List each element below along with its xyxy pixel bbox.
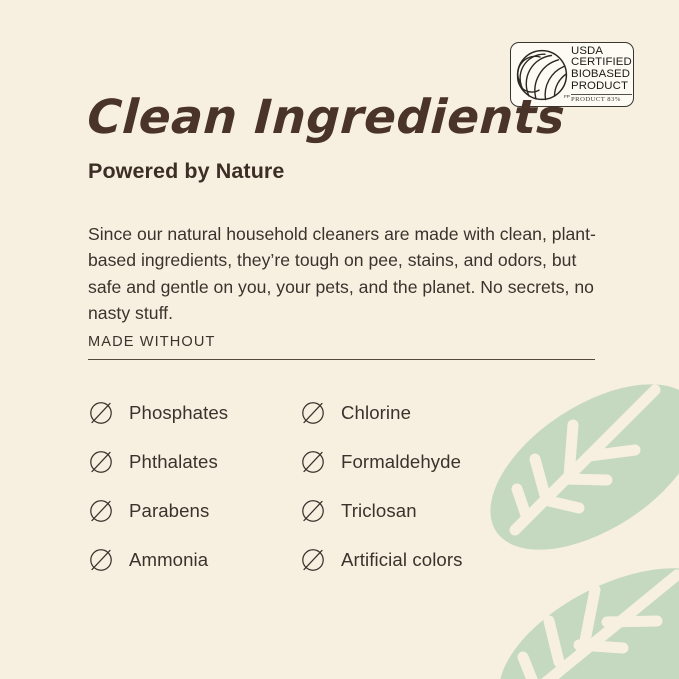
usda-divider xyxy=(571,94,632,95)
no-slash-circle-icon xyxy=(300,547,326,573)
no-slash-circle-icon xyxy=(300,498,326,524)
made-without-label: MADE WITHOUT xyxy=(88,333,216,351)
list-item-label: Artificial colors xyxy=(341,549,463,571)
no-slash-circle-icon xyxy=(300,449,326,475)
list-item: Phosphates xyxy=(88,400,300,426)
list-item-label: Chlorine xyxy=(341,402,411,424)
no-slash-circle-icon xyxy=(88,400,114,426)
list-item-label: Triclosan xyxy=(341,500,417,522)
no-slash-circle-icon xyxy=(88,547,114,573)
no-slash-circle-icon xyxy=(88,498,114,524)
list-item-label: Phthalates xyxy=(129,451,218,473)
page-subtitle: Powered by Nature xyxy=(88,158,284,184)
list-item: Formaldehyde xyxy=(300,449,598,475)
list-item-label: Phosphates xyxy=(129,402,228,424)
list-item-label: Formaldehyde xyxy=(341,451,461,473)
list-item: Artificial colors xyxy=(300,547,598,573)
page-title: Clean Ingredients xyxy=(86,92,566,144)
body-paragraph: Since our natural household cleaners are… xyxy=(88,221,600,327)
usda-line-3: BIOBASED xyxy=(571,69,632,81)
list-item-label: Parabens xyxy=(129,500,209,522)
list-item: Phthalates xyxy=(88,449,300,475)
list-item: Chlorine xyxy=(300,400,598,426)
no-slash-circle-icon xyxy=(300,400,326,426)
list-item-label: Ammonia xyxy=(129,549,208,571)
made-without-list: Phosphates Chlorine Phthalates Formaldeh… xyxy=(88,388,598,584)
usda-badge-text: USDA CERTIFIED BIOBASED PRODUCT PRODUCT … xyxy=(569,46,632,103)
list-item: Ammonia xyxy=(88,547,300,573)
list-item: Triclosan xyxy=(300,498,598,524)
no-slash-circle-icon xyxy=(88,449,114,475)
usda-line-4: PRODUCT xyxy=(571,81,632,93)
usda-product-percentage: PRODUCT 83% xyxy=(571,96,632,103)
clean-ingredients-infographic: USDA CERTIFIED BIOBASED PRODUCT PRODUCT … xyxy=(0,0,679,679)
section-divider xyxy=(88,359,595,360)
list-item: Parabens xyxy=(88,498,300,524)
